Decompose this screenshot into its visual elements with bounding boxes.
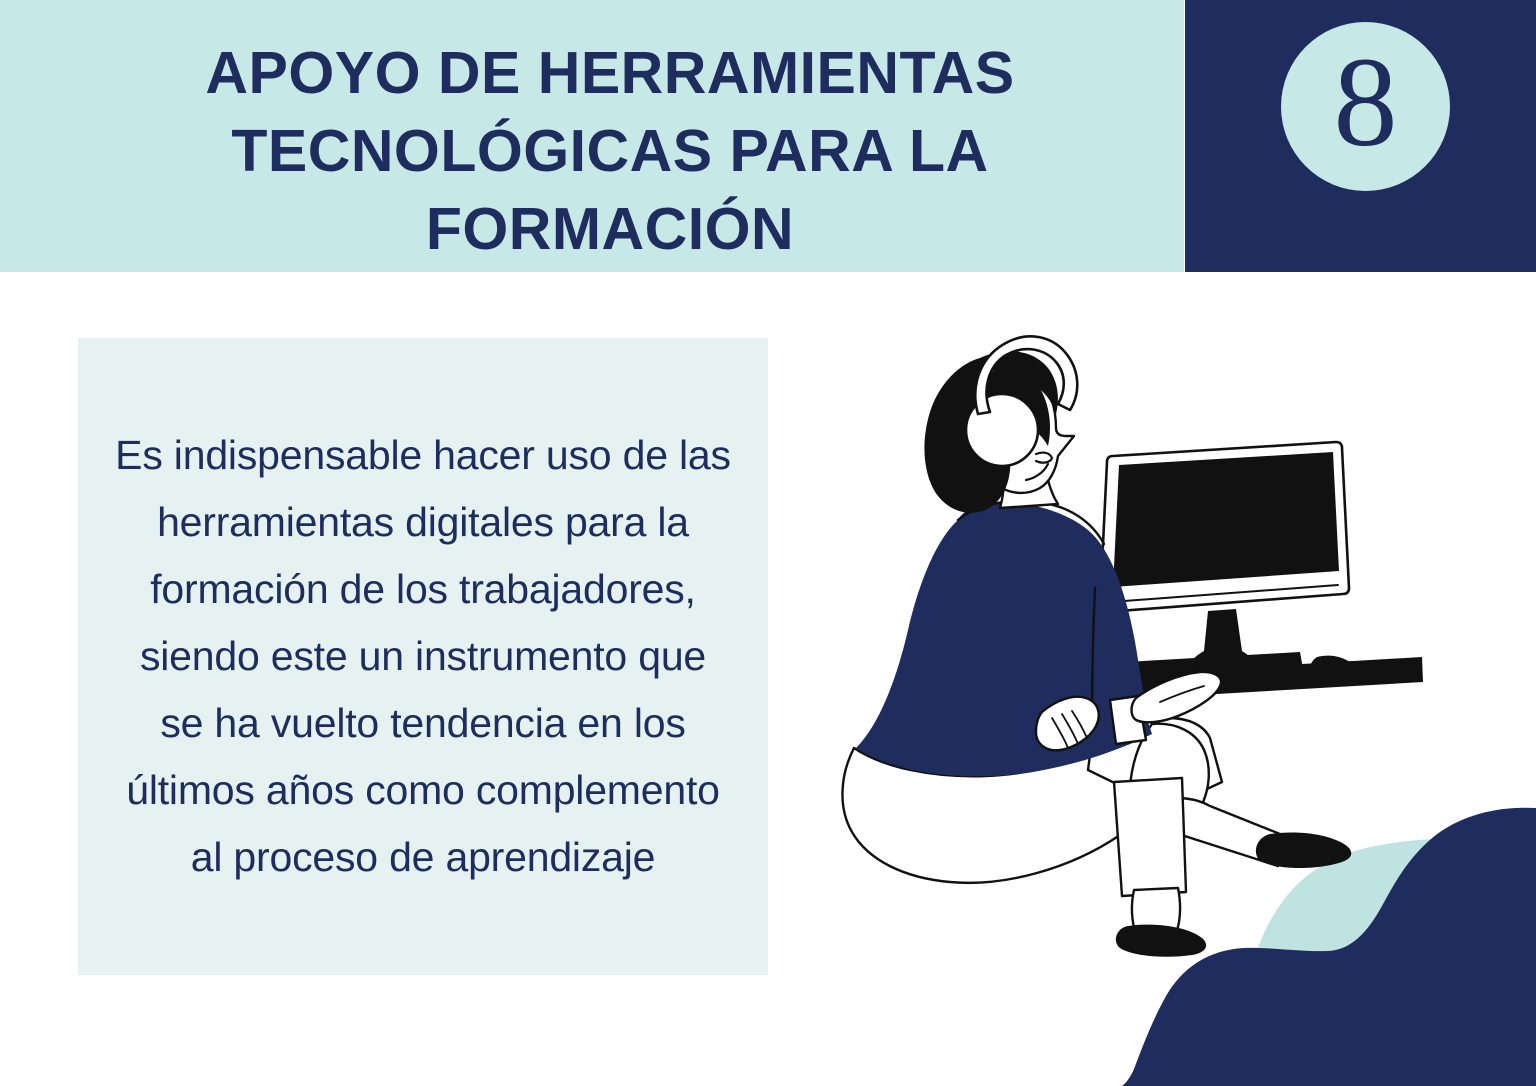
hair <box>980 351 1058 414</box>
monitor-stand-neck <box>1182 609 1259 674</box>
page-title: Apoyo de herramientas tecnológicas para … <box>150 34 1070 268</box>
face-profile <box>966 361 1074 493</box>
front-shin <box>1160 798 1290 866</box>
hair-bun <box>924 358 1010 513</box>
sleeve-crease <box>1092 588 1095 728</box>
hair-side-panel <box>984 366 1050 446</box>
back-shoe <box>1116 925 1206 957</box>
step-number-badge: 8 <box>1281 22 1450 191</box>
eye <box>1026 411 1033 420</box>
desktop-monitor <box>1100 442 1349 674</box>
monitor-chin-line <box>1111 585 1338 602</box>
navy-sweater <box>856 501 1152 776</box>
rear-hand-fingers <box>1052 711 1087 748</box>
body-text-card: Es indispensable hacer uso de las herram… <box>78 338 768 975</box>
computer-mouse <box>1308 656 1360 682</box>
seat-hip-shape <box>842 734 1170 883</box>
desk-monitor-plinth <box>1088 652 1304 686</box>
jaw-line <box>1026 464 1048 480</box>
back-ankle <box>1132 888 1180 940</box>
front-thigh <box>1088 718 1222 808</box>
headphone-ear-cup <box>966 394 1038 466</box>
forearm-cuff <box>1110 696 1146 744</box>
front-shoe <box>1256 832 1351 868</box>
headphone-headband <box>975 336 1077 414</box>
front-hand <box>1132 672 1222 722</box>
rear-hand <box>1036 697 1099 751</box>
front-hand-thumb-line <box>1160 686 1204 702</box>
cream-trousers <box>842 718 1290 940</box>
teal-blob-shape <box>1245 838 1536 1086</box>
desk-top-bar <box>1078 657 1423 702</box>
sweater-shoulder-line <box>958 501 1104 544</box>
monitor-screen <box>1113 452 1339 587</box>
shoes <box>1116 832 1351 956</box>
navy-blob-shape <box>1122 808 1536 1086</box>
back-lower-leg <box>1114 778 1186 896</box>
body-paragraph: Es indispensable hacer uso de las herram… <box>113 422 733 891</box>
sweater-lap <box>890 704 1152 777</box>
infographic-slide: Apoyo de herramientas tecnológicas para … <box>0 0 1536 1086</box>
arms-and-hands <box>1036 672 1221 750</box>
step-number-label: 8 <box>1334 38 1398 166</box>
sweater-body <box>856 502 1150 776</box>
head-group <box>924 336 1077 512</box>
front-knee <box>1130 724 1209 812</box>
neck <box>1000 456 1058 508</box>
desk-surface <box>1078 652 1423 702</box>
monitor-bezel <box>1100 442 1349 612</box>
lips <box>1036 453 1052 463</box>
illustration-woman-at-computer <box>830 330 1450 970</box>
